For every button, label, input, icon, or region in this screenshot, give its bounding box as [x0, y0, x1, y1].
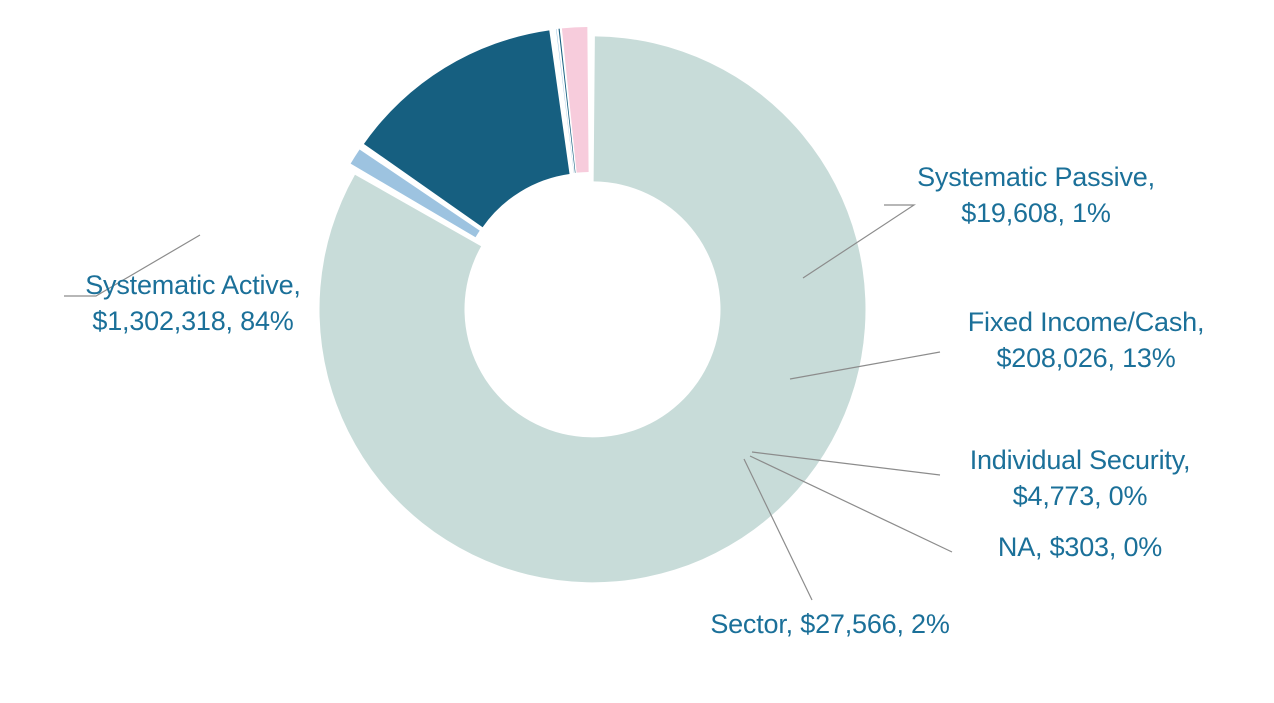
slice-label-individual-security: Individual Security, $4,773, 0%: [930, 443, 1230, 514]
slice-label-systematic-passive: Systematic Passive, $19,608, 1%: [880, 160, 1192, 231]
donut-slices-group: [319, 27, 865, 582]
slice-label-na: NA, $303, 0%: [930, 530, 1230, 566]
donut-chart-figure: Systematic Active, $1,302,318, 84% Syste…: [0, 0, 1274, 703]
slice-label-systematic-active: Systematic Active, $1,302,318, 84%: [48, 268, 338, 339]
slice-label-fixed-income-cash: Fixed Income/Cash, $208,026, 13%: [930, 305, 1242, 376]
slice-label-sector: Sector, $27,566, 2%: [660, 607, 1000, 643]
